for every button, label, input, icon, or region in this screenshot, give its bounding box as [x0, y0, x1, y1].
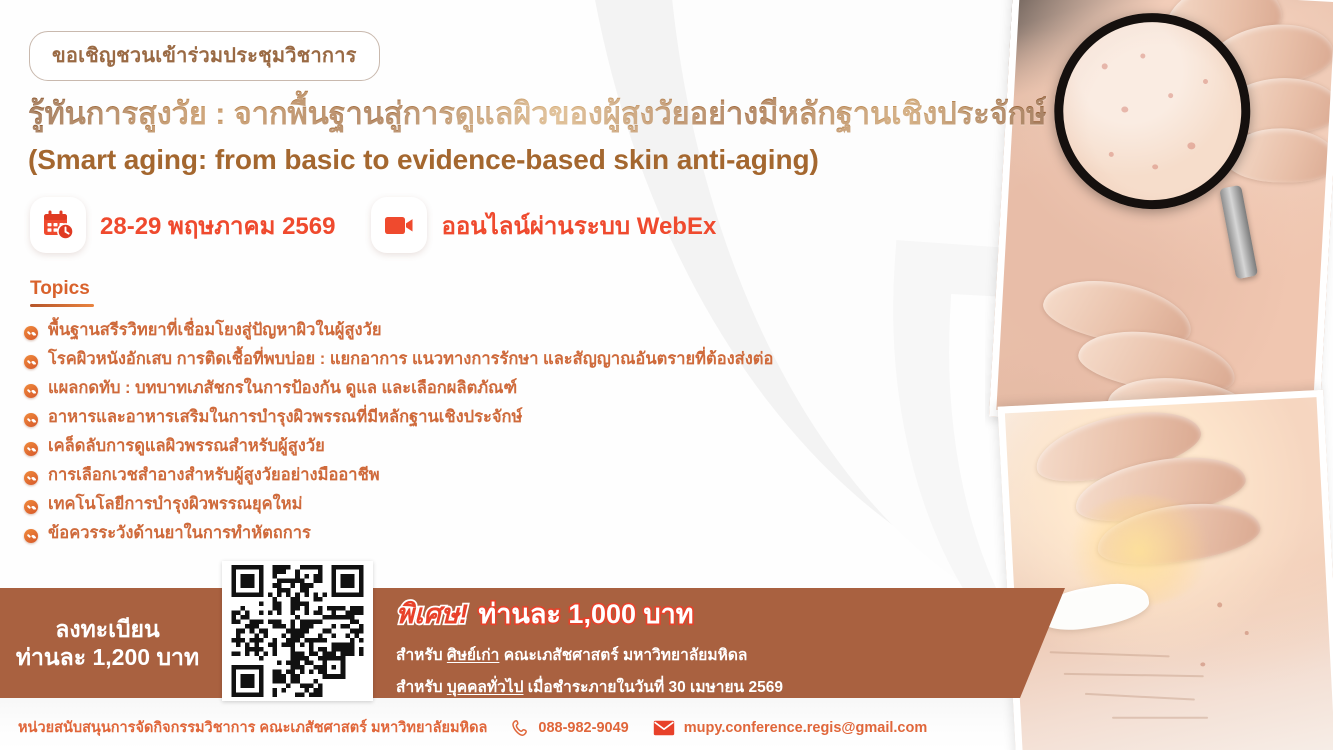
- event-meta-row: 28-29 พฤษภาคม 2569 ออนไลน์ผ่านระบบ WebEx: [30, 197, 716, 253]
- registration-price: ท่านละ 1,200 บาท: [16, 643, 199, 671]
- photo-frame-lower: [998, 390, 1333, 750]
- eligibility-1-suffix: คณะเภสัชศาสตร์ มหาวิทยาลัยมหิดล: [499, 647, 747, 664]
- topic-item: พื้นฐานสรีรวิทยาที่เชื่อมโยงสู่ปัญหาผิวใ…: [24, 320, 1004, 349]
- invite-badge: ขอเชิญชวนเข้าร่วมประชุมวิชาการ: [29, 31, 380, 81]
- hand-cream-application-photo: [998, 390, 1333, 750]
- registration-label: ลงทะเบียน: [55, 615, 160, 643]
- page-title-thai: รู้ทันการสูงวัย : จากพื้นฐานสู่การดูแลผิ…: [28, 88, 1046, 138]
- topic-label: ข้อควรระวังด้านยาในการทำหัตถการ: [48, 523, 311, 544]
- eligibility-2-prefix: สำหรับ: [396, 679, 447, 696]
- special-offer-block: พิเศษ! ท่านละ 1,000 บาท สำหรับ ศิษย์เก่า…: [396, 592, 1016, 699]
- topic-label: อาหารและอาหารเสริมในการบำรุงผิวพรรณที่มี…: [48, 407, 522, 428]
- topic-item: แผลกดทับ : บทบาทเภสัชกรในการป้องกัน ดูแล…: [24, 378, 1004, 407]
- special-offer-line: พิเศษ! ท่านละ 1,000 บาท: [396, 592, 1016, 635]
- topics-heading: Topics: [30, 278, 94, 307]
- footer-phone[interactable]: 088-982-9049: [538, 720, 628, 736]
- calendar-clock-icon: [30, 197, 86, 253]
- poster-root: ขอเชิญชวนเข้าร่วมประชุมวิชาการ รู้ทันการ…: [0, 0, 1333, 750]
- video-camera-icon: [371, 197, 427, 253]
- registration-price-block: ลงทะเบียน ท่านละ 1,200 บาท: [0, 588, 215, 698]
- eligibility-line-2: สำหรับ บุคคลทั่วไป เมื่อชำระภายในวันที่ …: [396, 674, 1016, 699]
- eligibility-1-highlight: ศิษย์เก่า: [447, 647, 500, 664]
- event-platform-text: ออนไลน์ผ่านระบบ WebEx: [441, 206, 716, 245]
- page-title-english: (Smart aging: from basic to evidence-bas…: [28, 144, 819, 176]
- eligibility-2-suffix: เมื่อชำระภายในวันที่ 30 เมษายน 2569: [524, 679, 783, 696]
- topic-label: การเลือกเวชสำอางสำหรับผู้สูงวัยอย่างมืออ…: [48, 465, 380, 486]
- topic-label: โรคผิวหนังอักเสบ การติดเชื้อที่พบบ่อย : …: [48, 349, 773, 370]
- check-circle-icon: [24, 471, 38, 485]
- check-circle-icon: [24, 442, 38, 456]
- topic-label: แผลกดทับ : บทบาทเภสัชกรในการป้องกัน ดูแล…: [48, 378, 517, 399]
- topic-item: เทคโนโลยีการบำรุงผิวพรรณยุคใหม่: [24, 494, 1004, 523]
- hand-skin-magnifier-photo: [989, 0, 1333, 435]
- check-circle-icon: [24, 413, 38, 427]
- check-circle-icon: [24, 355, 38, 369]
- footer-email[interactable]: mupy.conference.regis@gmail.com: [684, 720, 928, 736]
- phone-icon: [511, 719, 529, 737]
- footer-organizer: หน่วยสนับสนุนการจัดกิจกรรมวิชาการ คณะเภส…: [18, 716, 487, 739]
- check-circle-icon: [24, 326, 38, 340]
- envelope-icon: [653, 720, 675, 736]
- topic-item: การเลือกเวชสำอางสำหรับผู้สูงวัยอย่างมืออ…: [24, 465, 1004, 494]
- event-date-text: 28-29 พฤษภาคม 2569: [100, 206, 335, 245]
- check-circle-icon: [24, 500, 38, 514]
- eligibility-1-prefix: สำหรับ: [396, 647, 447, 664]
- topic-label: เทคโนโลยีการบำรุงผิวพรรณยุคใหม่: [48, 494, 302, 515]
- special-price: ท่านละ 1,000 บาท: [478, 592, 693, 635]
- topic-label: เคล็ดลับการดูแลผิวพรรณสำหรับผู้สูงวัย: [48, 436, 325, 457]
- check-circle-icon: [24, 384, 38, 398]
- event-platform: ออนไลน์ผ่านระบบ WebEx: [371, 197, 716, 253]
- topics-heading-label: Topics: [30, 278, 90, 299]
- topic-item: โรคผิวหนังอักเสบ การติดเชื้อที่พบบ่อย : …: [24, 349, 1004, 378]
- eligibility-line-1: สำหรับ ศิษย์เก่า คณะเภสัชศาสตร์ มหาวิทยา…: [396, 642, 1016, 667]
- topic-item: อาหารและอาหารเสริมในการบำรุงผิวพรรณที่มี…: [24, 407, 1004, 436]
- topics-heading-rule: [30, 304, 94, 307]
- event-date: 28-29 พฤษภาคม 2569: [30, 197, 335, 253]
- topic-item: ข้อควรระวังด้านยาในการทำหัตถการ: [24, 523, 1004, 552]
- check-circle-icon: [24, 529, 38, 543]
- topic-label: พื้นฐานสรีรวิทยาที่เชื่อมโยงสู่ปัญหาผิวใ…: [48, 320, 382, 341]
- topics-list: พื้นฐานสรีรวิทยาที่เชื่อมโยงสู่ปัญหาผิวใ…: [24, 320, 1004, 552]
- photo-frame-upper: [989, 0, 1333, 435]
- qr-code-icon[interactable]: [222, 561, 373, 701]
- special-label: พิเศษ!: [396, 592, 468, 635]
- footer-contact: หน่วยสนับสนุนการจัดกิจกรรมวิชาการ คณะเภส…: [18, 716, 927, 739]
- topic-item: เคล็ดลับการดูแลผิวพรรณสำหรับผู้สูงวัย: [24, 436, 1004, 465]
- eligibility-2-highlight: บุคคลทั่วไป: [447, 679, 524, 696]
